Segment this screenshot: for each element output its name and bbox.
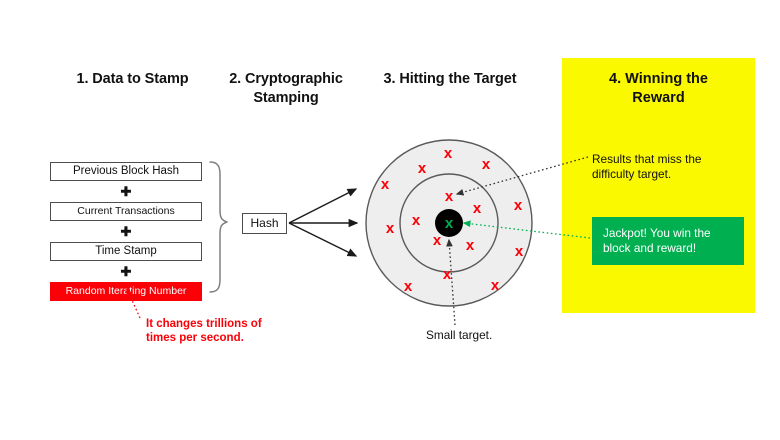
plus-separator-1: ✚ <box>50 186 202 198</box>
heading-step-4-line-1: 4. Winning the <box>572 70 745 89</box>
miss-mark-12: x <box>515 243 524 260</box>
miss-difficulty-note: Results that miss the difficulty target. <box>592 152 752 182</box>
miss-mark-8: x <box>412 212 421 229</box>
difficulty-target <box>366 140 532 306</box>
nonce-change-note-line-1: It changes trillions of <box>146 317 296 331</box>
jackpot-box: Jackpot! You win the block and reward! <box>592 217 744 265</box>
heading-step-2-line-1: 2. Cryptographic <box>216 70 356 89</box>
miss-mark-11: x <box>466 237 475 254</box>
miss-mark-5: x <box>445 188 454 205</box>
hash-arrow-upper <box>289 189 356 223</box>
nonce-change-note-line-2: times per second. <box>146 331 296 345</box>
nonce-change-note: It changes trillions of times per second… <box>146 317 296 345</box>
miss-mark-14: x <box>404 278 413 295</box>
miss-mark-2: x <box>418 160 427 177</box>
jackpot-line-1: Jackpot! You win the <box>603 226 734 241</box>
miss-mark-1: x <box>444 145 453 162</box>
miss-mark-13: x <box>443 266 452 283</box>
heading-step-4-line-2: Reward <box>572 89 745 108</box>
winning-mark-glyph: x <box>445 215 454 232</box>
data-box-random-iterating-number: Random Iterating Number <box>50 282 202 301</box>
data-stack-curly-brace <box>210 162 227 292</box>
miss-difficulty-note-line-2: difficulty target. <box>592 167 752 182</box>
miss-mark-10: x <box>433 232 442 249</box>
target-bullseye <box>435 209 463 237</box>
hash-arrow-lower <box>289 223 356 256</box>
miss-marks-group: xxxxxxxxxxxxxxx <box>381 145 524 295</box>
heading-step-1: 1. Data to Stamp <box>55 70 210 89</box>
data-to-stamp-stack: Previous Block Hash ✚ Current Transactio… <box>50 162 202 301</box>
small-target-label: Small target. <box>426 328 492 342</box>
diagram-canvas: 1. Data to Stamp 2. Cryptographic Stampi… <box>0 0 780 440</box>
miss-mark-7: x <box>514 197 523 214</box>
miss-mark-15: x <box>491 277 500 294</box>
miss-mark-3: x <box>482 156 491 173</box>
hash-output-arrows <box>289 189 357 256</box>
data-box-current-transactions: Current Transactions <box>50 202 202 221</box>
winning-mark: x <box>445 215 454 232</box>
miss-mark-6: x <box>473 200 482 217</box>
target-inner-ring <box>400 174 498 272</box>
plus-separator-3: ✚ <box>50 266 202 278</box>
plus-separator-2: ✚ <box>50 226 202 238</box>
jackpot-line-2: block and reward! <box>603 241 734 256</box>
data-box-previous-block-hash: Previous Block Hash <box>50 162 202 181</box>
heading-step-2-line-2: Stamping <box>216 89 356 108</box>
miss-mark-9: x <box>386 220 395 237</box>
heading-step-3: 3. Hitting the Target <box>360 70 540 89</box>
data-box-time-stamp: Time Stamp <box>50 242 202 261</box>
hash-box: Hash <box>242 213 287 234</box>
small-target-leader <box>449 240 455 325</box>
target-outer-ring <box>366 140 532 306</box>
heading-step-2: 2. Cryptographic Stamping <box>216 70 356 108</box>
heading-step-4: 4. Winning the Reward <box>572 70 745 108</box>
miss-mark-4: x <box>381 176 390 193</box>
miss-difficulty-note-line-1: Results that miss the <box>592 152 752 167</box>
